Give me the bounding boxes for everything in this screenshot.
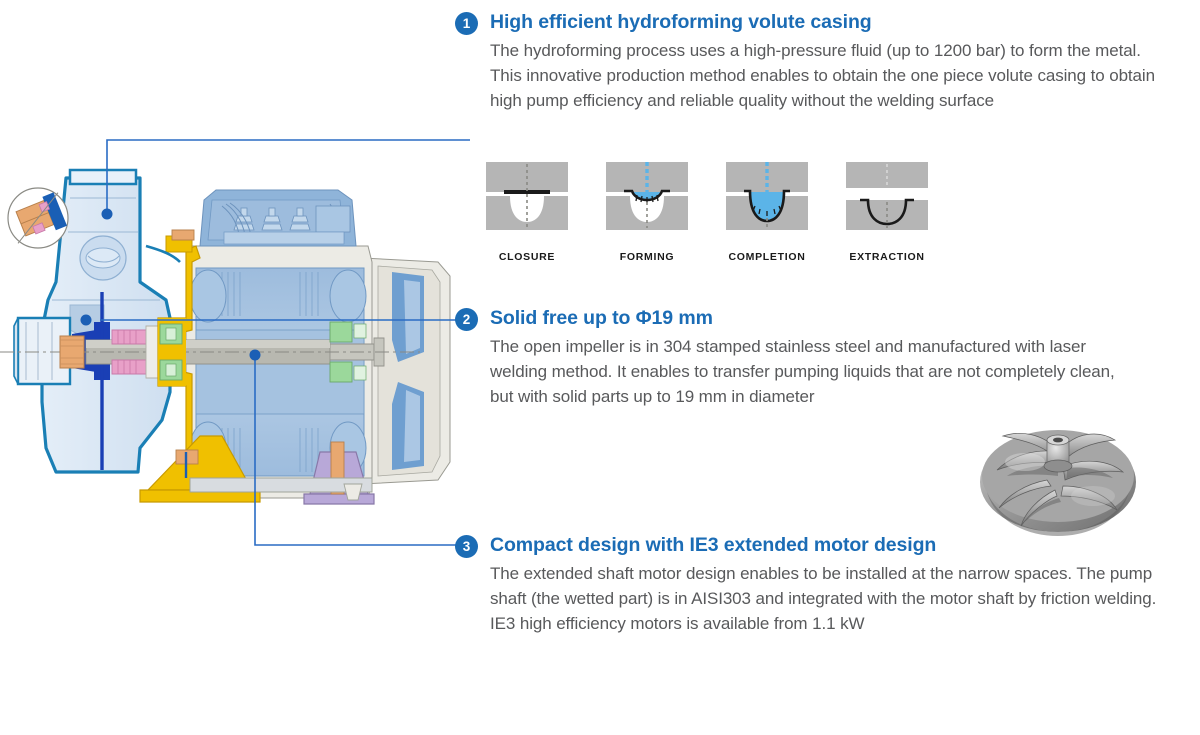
- process-label-extraction: EXTRACTION: [846, 251, 928, 263]
- process-step-completion: COMPLETION: [726, 162, 808, 263]
- feature-3-title: Compact design with IE3 extended motor d…: [490, 534, 936, 556]
- feature-block-3: 3 Compact design with IE3 extended motor…: [455, 533, 1175, 636]
- process-label-completion: COMPLETION: [726, 251, 808, 263]
- feature-1-body: The hydroforming process uses a high-pre…: [490, 38, 1160, 113]
- feature-3-heading: 3 Compact design with IE3 extended motor…: [455, 533, 1175, 557]
- extraction-icon: [846, 162, 928, 230]
- motor-terminal-box: [200, 190, 356, 246]
- feature-2-title: Solid free up to Φ19 mm: [490, 307, 713, 329]
- closure-icon: [486, 162, 568, 230]
- feature-3-body: The extended shaft motor design enables …: [490, 561, 1180, 636]
- feature-block-2: 2 Solid free up to Φ19 mm The open impel…: [455, 306, 1155, 409]
- process-label-closure: CLOSURE: [486, 251, 568, 263]
- completion-icon: [726, 162, 808, 230]
- process-label-forming: FORMING: [606, 251, 688, 263]
- feature-block-1: 1 High efficient hydroforming volute cas…: [455, 10, 1175, 113]
- process-step-closure: CLOSURE: [486, 162, 568, 263]
- feature-1-title: High efficient hydroforming volute casin…: [490, 11, 872, 33]
- feature-1-heading: 1 High efficient hydroforming volute cas…: [455, 10, 1175, 34]
- feature-2-heading: 2 Solid free up to Φ19 mm: [455, 306, 1155, 330]
- forming-icon: [606, 162, 688, 230]
- feature-3-badge: 3: [455, 535, 478, 558]
- process-step-forming: FORMING: [606, 162, 688, 263]
- feature-2-body: The open impeller is in 304 stamped stai…: [490, 334, 1130, 409]
- pump-cutaway-illustration: [0, 0, 470, 730]
- motor-fan-cowl: [362, 258, 450, 484]
- hydroforming-process-steps: CLOSURE FORMING: [486, 162, 928, 263]
- impeller-photo: [963, 404, 1153, 544]
- process-step-extraction: EXTRACTION: [846, 162, 928, 263]
- feature-2-badge: 2: [455, 308, 478, 331]
- product-feature-diagram: 1 High efficient hydroforming volute cas…: [0, 0, 1200, 730]
- feature-1-badge: 1: [455, 12, 478, 35]
